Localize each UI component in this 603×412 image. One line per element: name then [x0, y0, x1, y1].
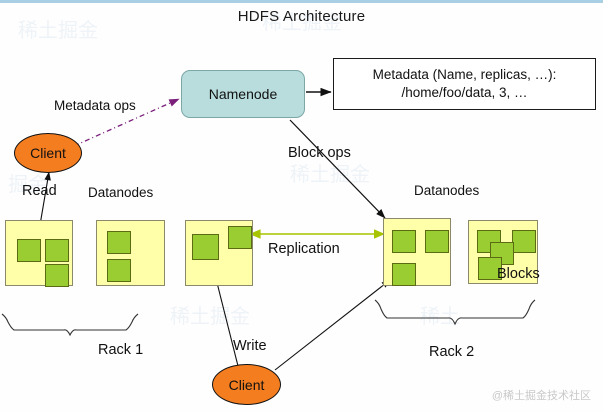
- block: [512, 230, 536, 253]
- label-read: Read: [22, 183, 57, 199]
- arrow-block-ops: [290, 120, 385, 218]
- block: [107, 231, 131, 254]
- label-datanodes-left: Datanodes: [88, 185, 153, 200]
- hdfs-architecture-diagram: 稀土掘金 稀土掘金 稀土 掘金 稀土掘金 稀土掘金 稀土 HDFS Archit…: [0, 0, 603, 412]
- block: [107, 259, 131, 282]
- datanode-3[interactable]: [185, 220, 253, 286]
- background-watermark: 稀土掘金: [290, 158, 370, 187]
- background-watermark: 稀土: [420, 300, 460, 329]
- block: [392, 263, 416, 286]
- metadata-line-2: /home/foo/data, 3, …: [401, 84, 527, 102]
- label-rack1: Rack 1: [98, 342, 143, 358]
- datanode-1[interactable]: [5, 220, 73, 286]
- client-read-label: Client: [30, 145, 66, 161]
- background-watermark: 稀土掘金: [170, 300, 250, 329]
- label-datanodes-right: Datanodes: [414, 183, 479, 198]
- block: [425, 230, 449, 253]
- namenode-label: Namenode: [209, 86, 278, 102]
- datanode-4[interactable]: [383, 218, 451, 286]
- block: [45, 239, 69, 262]
- namenode-box[interactable]: Namenode: [181, 70, 305, 118]
- diagram-title: HDFS Architecture: [0, 8, 603, 25]
- label-block-ops: Block ops: [288, 145, 351, 161]
- label-metadata-ops: Metadata ops: [54, 98, 136, 113]
- datanode-2[interactable]: [96, 220, 165, 286]
- block: [228, 226, 252, 249]
- client-read-node[interactable]: Client: [14, 133, 82, 173]
- block: [45, 264, 69, 287]
- top-accent-bar: [0, 0, 603, 3]
- block: [17, 239, 41, 262]
- client-write-node[interactable]: Client: [212, 364, 281, 405]
- metadata-line-1: Metadata (Name, replicas, …):: [373, 66, 557, 84]
- label-write: Write: [233, 338, 267, 354]
- label-rack2: Rack 2: [429, 344, 474, 360]
- metadata-box: Metadata (Name, replicas, …): /home/foo/…: [333, 58, 596, 110]
- arrow-write-to-rack2: [275, 280, 390, 370]
- label-replication: Replication: [268, 241, 340, 257]
- client-write-label: Client: [229, 377, 265, 393]
- site-watermark: @稀土掘金技术社区: [492, 387, 591, 403]
- block: [192, 234, 219, 260]
- rack1-brace: [2, 314, 138, 335]
- label-blocks: Blocks: [497, 266, 540, 282]
- block: [392, 230, 416, 253]
- rack2-brace: [375, 300, 535, 324]
